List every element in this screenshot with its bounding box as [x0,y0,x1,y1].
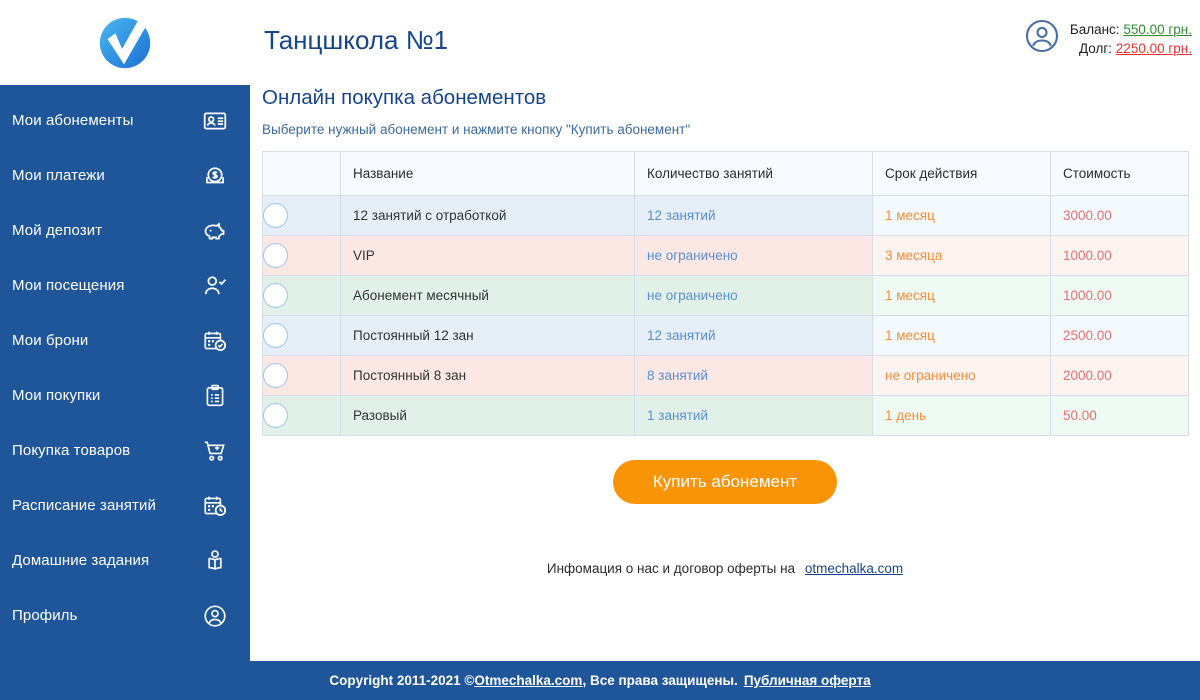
balance-row: Баланс: 550.00 грн. [1070,20,1192,39]
sidebar-item-label: Профиль [12,607,77,624]
cell-name: Постоянный 8 зан [341,356,635,396]
table-row[interactable]: 12 занятий с отработкой 12 занятий 1 мес… [263,196,1189,236]
sidebar-item-label: Покупка товаров [12,442,130,459]
radio-button[interactable] [263,403,288,428]
footer: Copyright 2011-2021 © Otmechalka.com , В… [0,661,1200,700]
cell-term: 1 месяц [873,316,1051,356]
table-header-row: Название Количество занятий Срок действи… [263,152,1189,196]
column-header-name: Название [341,152,635,196]
buy-subscription-button[interactable]: Купить абонемент [613,460,837,504]
footer-site-link[interactable]: Otmechalka.com [474,673,582,688]
main-content: Онлайн покупка абонементов Выберите нужн… [250,78,1200,661]
column-header-term: Срок действия [873,152,1051,196]
sidebar: Мои абонементы Мои платежи [0,0,250,661]
cell-price: 3000.00 [1051,196,1189,236]
row-select-cell[interactable] [263,196,341,236]
cell-term: 3 месяца [873,236,1051,276]
sidebar-item-buy-goods[interactable]: Покупка товаров [0,423,250,478]
offer-site-link[interactable]: otmechalka.com [805,561,903,576]
cell-name: VIP [341,236,635,276]
row-select-cell[interactable] [263,276,341,316]
id-card-icon [202,108,228,134]
sidebar-item-label: Мои брони [12,332,88,349]
footer-rights: , Все права защищены. [582,673,737,688]
sidebar-item-label: Домашние задания [12,552,149,569]
offer-note: Инфомация о нас и договор оферты на otme… [262,561,1188,576]
book-reader-icon [202,548,228,574]
column-header-count: Количество занятий [635,152,873,196]
cell-term: не ограничено [873,356,1051,396]
cell-name: Разовый [341,396,635,436]
cell-price: 2000.00 [1051,356,1189,396]
footer-public-offer-link[interactable]: Публичная оферта [744,673,871,688]
cell-term: 1 месяц [873,196,1051,236]
sidebar-item-schedule[interactable]: Расписание занятий [0,478,250,533]
cell-name: 12 занятий с отработкой [341,196,635,236]
table-row[interactable]: Абонемент месячный не ограничено 1 месяц… [263,276,1189,316]
check-circle-logo-icon [94,12,156,74]
sidebar-item-label: Мои абонементы [12,112,133,129]
sidebar-item-label: Мои посещения [12,277,124,294]
radio-button[interactable] [263,323,288,348]
cell-price: 1000.00 [1051,276,1189,316]
page-title: Танцшкола №1 [264,25,448,56]
debt-row: Долг: 2250.00 грн. [1070,39,1192,58]
sidebar-item-label: Мой депозит [12,222,102,239]
cell-price: 50.00 [1051,396,1189,436]
cell-count: не ограничено [635,276,873,316]
sidebar-item-label: Расписание занятий [12,497,156,514]
radio-button[interactable] [263,243,288,268]
account-summary: Баланс: 550.00 грн. Долг: 2250.00 грн. [1024,18,1192,58]
avatar[interactable] [1024,18,1060,54]
buy-button-wrapper: Купить абонемент [262,460,1188,504]
debt-label: Долг: [1079,41,1112,56]
cell-name: Абонемент месячный [341,276,635,316]
sidebar-item-my-purchases[interactable]: Мои покупки [0,368,250,423]
app-window: Мои абонементы Мои платежи [0,0,1200,700]
cell-name: Постоянный 12 зан [341,316,635,356]
cell-term: 1 месяц [873,276,1051,316]
clipboard-list-icon [202,383,228,409]
sidebar-item-my-subscriptions[interactable]: Мои абонементы [0,93,250,148]
piggy-bank-icon [202,218,228,244]
row-select-cell[interactable] [263,236,341,276]
account-values: Баланс: 550.00 грн. Долг: 2250.00 грн. [1070,18,1192,58]
cell-price: 1000.00 [1051,236,1189,276]
sidebar-item-my-payments[interactable]: Мои платежи [0,148,250,203]
table-row[interactable]: Разовый 1 занятий 1 день 50.00 [263,396,1189,436]
logo-area[interactable] [0,0,250,85]
calendar-check-icon [202,328,228,354]
cell-count: 1 занятий [635,396,873,436]
cell-count: 8 занятий [635,356,873,396]
user-check-icon [202,273,228,299]
sidebar-item-profile[interactable]: Профиль [0,588,250,643]
subscriptions-table: Название Количество занятий Срок действи… [262,151,1189,436]
section-title: Онлайн покупка абонементов [262,86,1188,110]
cart-plus-icon [202,438,228,464]
column-header-select [263,152,341,196]
money-dollar-icon [202,163,228,189]
cell-term: 1 день [873,396,1051,436]
sidebar-item-homework[interactable]: Домашние задания [0,533,250,588]
radio-button[interactable] [263,283,288,308]
sidebar-item-label: Мои платежи [12,167,105,184]
sidebar-item-my-deposit[interactable]: Мой депозит [0,203,250,258]
calendar-clock-icon [202,493,228,519]
cell-count: 12 занятий [635,316,873,356]
table-header: Название Количество занятий Срок действи… [263,152,1189,196]
cell-price: 2500.00 [1051,316,1189,356]
footer-copyright: Copyright 2011-2021 © [329,673,474,688]
balance-label: Баланс: [1070,22,1120,37]
radio-button[interactable] [263,203,288,228]
radio-button[interactable] [263,363,288,388]
row-select-cell[interactable] [263,396,341,436]
column-header-price: Стоимость [1051,152,1189,196]
cell-count: 12 занятий [635,196,873,236]
sidebar-item-label: Мои покупки [12,387,100,404]
debt-value[interactable]: 2250.00 грн. [1116,41,1192,56]
sidebar-item-my-bookings[interactable]: Мои брони [0,313,250,368]
row-select-cell[interactable] [263,316,341,356]
balance-value[interactable]: 550.00 грн. [1123,22,1192,37]
sidebar-item-my-visits[interactable]: Мои посещения [0,258,250,313]
offer-note-text: Инфомация о нас и договор оферты на [547,561,795,576]
row-select-cell[interactable] [263,356,341,396]
cell-count: не ограничено [635,236,873,276]
table-row[interactable]: Постоянный 8 зан 8 занятий не ограничено… [263,356,1189,396]
user-circle-icon [202,603,228,629]
sidebar-nav: Мои абонементы Мои платежи [0,85,250,661]
table-row[interactable]: Постоянный 12 зан 12 занятий 1 месяц 250… [263,316,1189,356]
table-body: 12 занятий с отработкой 12 занятий 1 мес… [263,196,1189,436]
table-row[interactable]: VIP не ограничено 3 месяца 1000.00 [263,236,1189,276]
header: Танцшкола №1 Баланс: 550.00 грн. Долг: 2… [250,0,1200,78]
section-subtitle: Выберите нужный абонемент и нажмите кноп… [262,122,1188,137]
